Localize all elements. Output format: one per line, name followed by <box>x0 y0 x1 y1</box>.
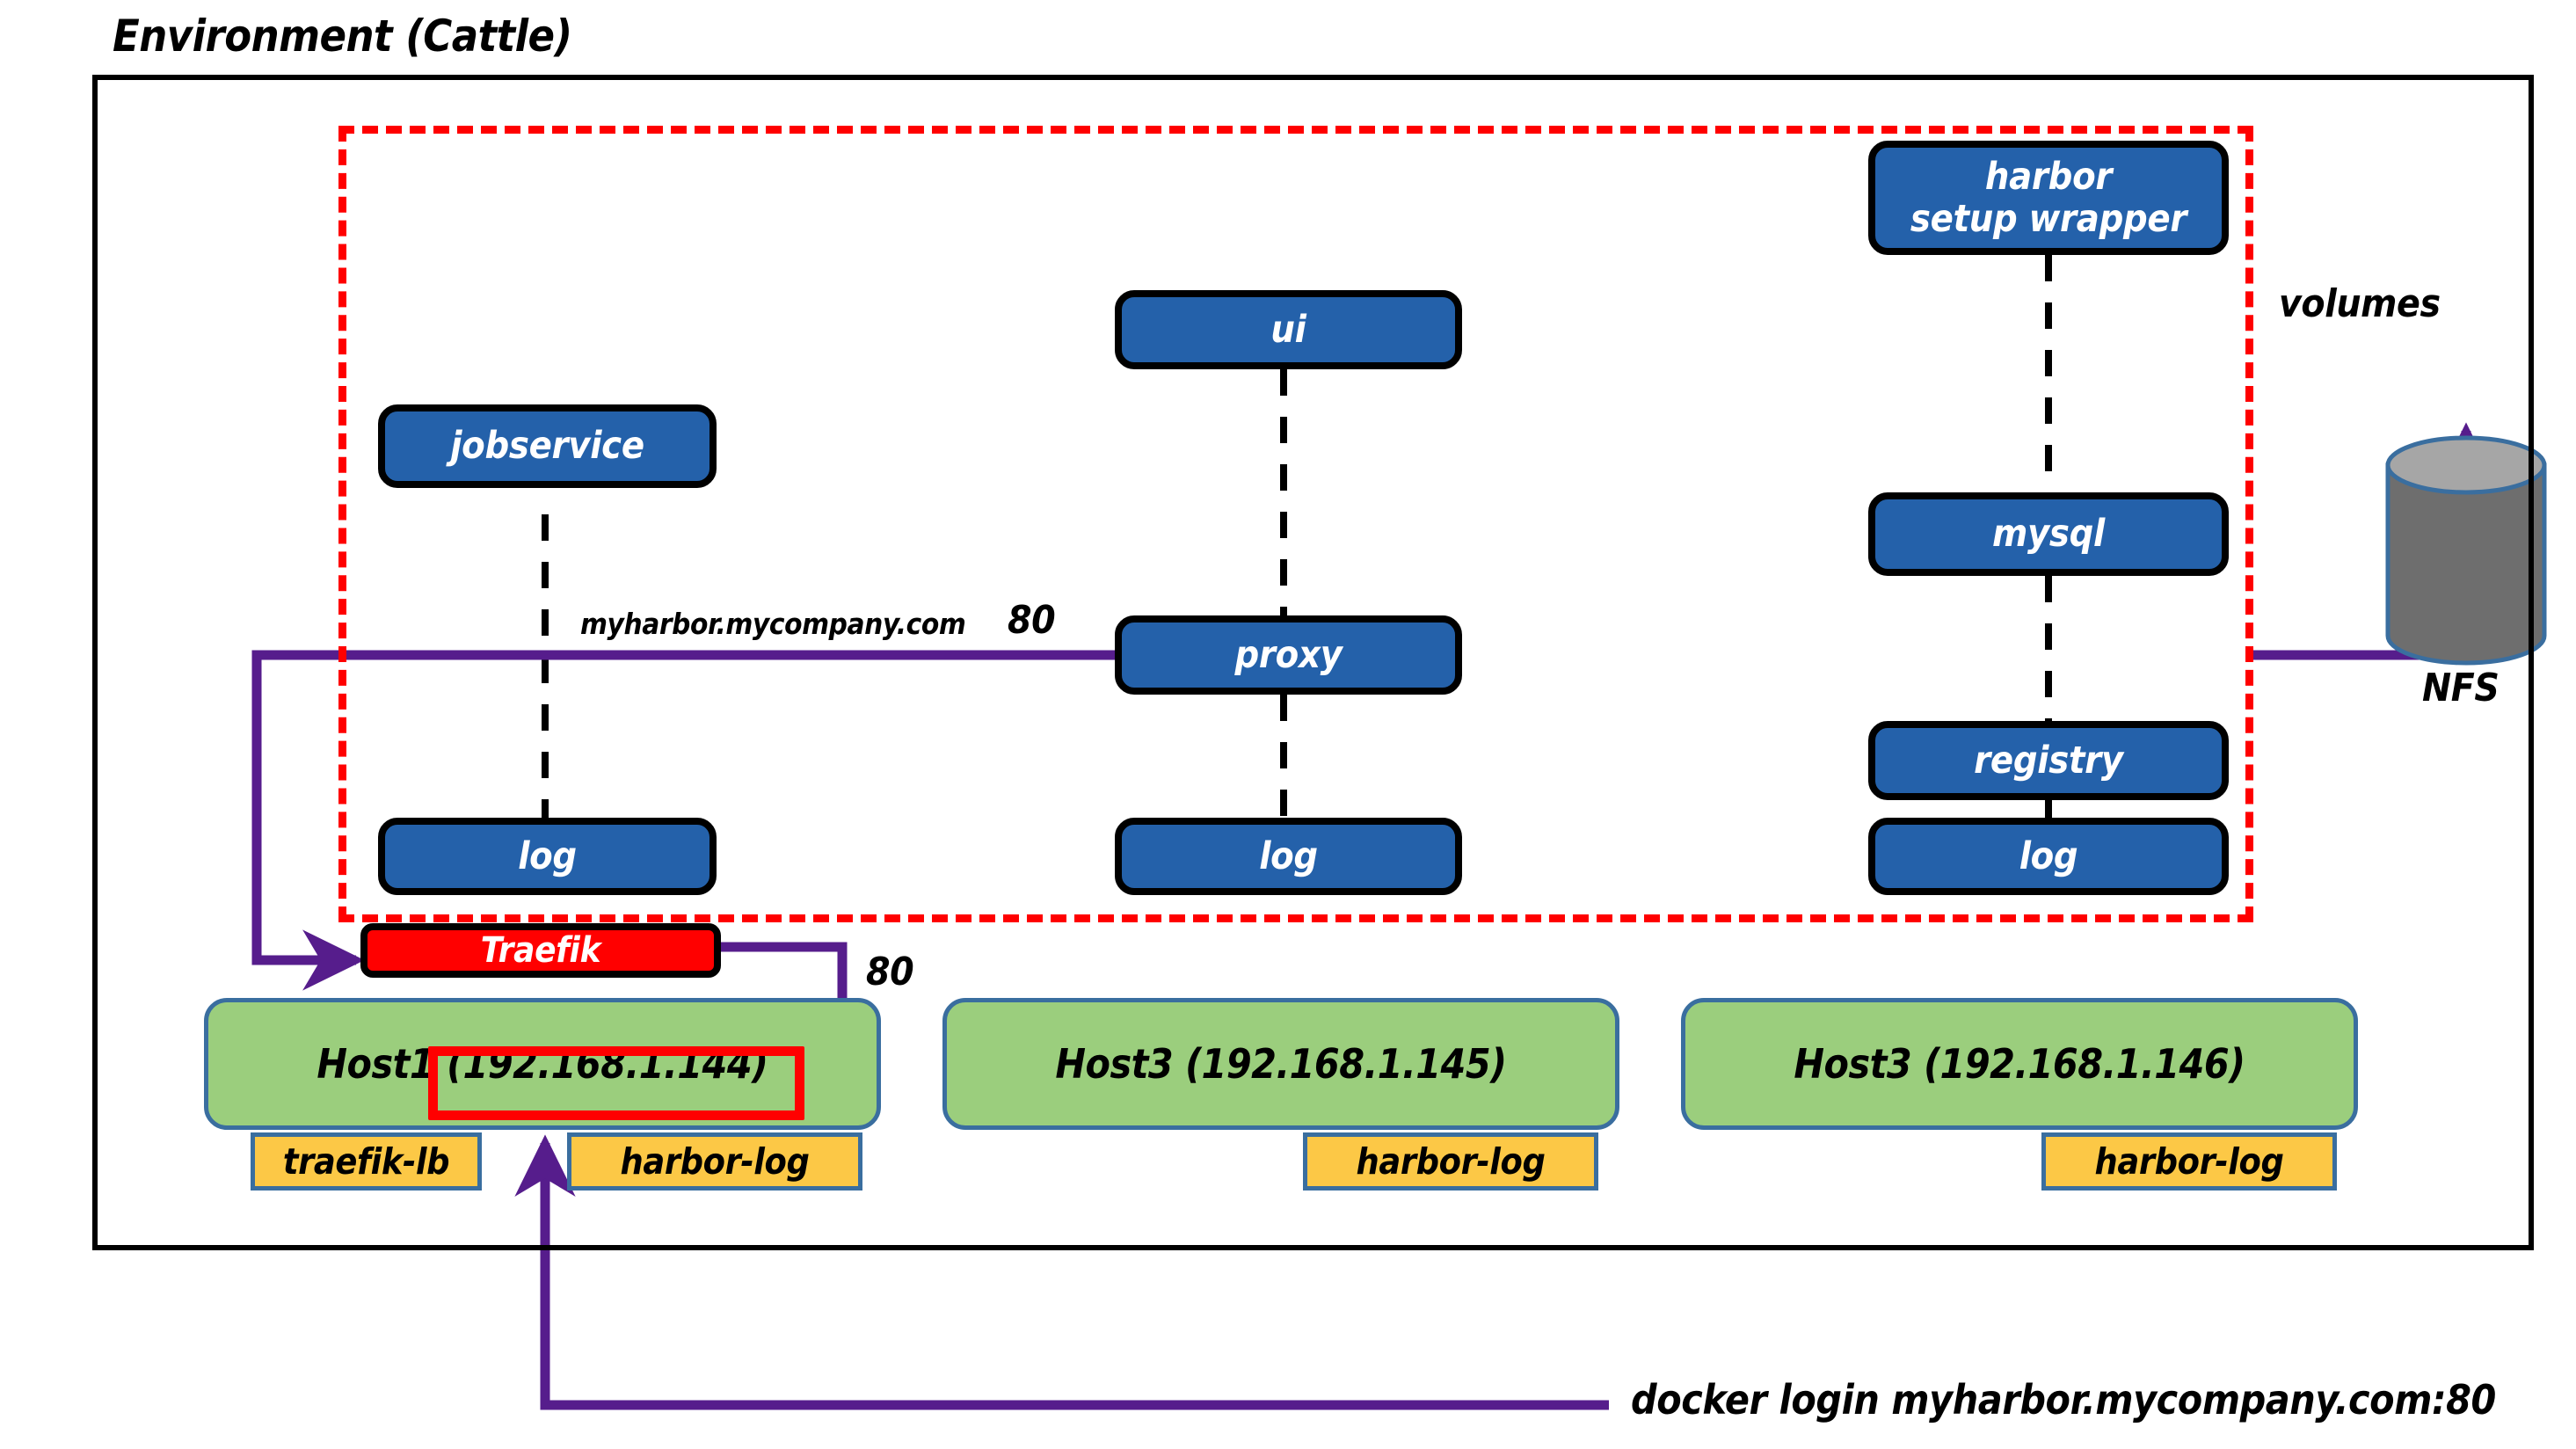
host1-ip-highlight <box>428 1046 804 1120</box>
label-nfs: NFS <box>2422 666 2500 710</box>
service-jobservice[interactable]: jobservice <box>378 404 717 488</box>
service-harbor-setup-wrapper[interactable]: harbor setup wrapper <box>1868 141 2229 255</box>
label-docker-login-command: docker login myharbor.mycompany.com:80 <box>1631 1376 2496 1424</box>
diagram-canvas: Environment (Cattle) jobservice log ui p… <box>0 0 2576 1449</box>
service-jobservice-log[interactable]: log <box>378 818 717 895</box>
service-registry[interactable]: registry <box>1868 721 2229 800</box>
badge-host1-traefik-lb[interactable]: traefik-lb <box>251 1132 482 1191</box>
service-registry-log[interactable]: log <box>1868 818 2229 895</box>
host-box-2[interactable]: Host3 (192.168.1.145) <box>942 998 1619 1130</box>
service-proxy[interactable]: proxy <box>1115 615 1462 695</box>
service-proxy-log[interactable]: log <box>1115 818 1462 895</box>
service-ui[interactable]: ui <box>1115 290 1462 369</box>
label-volumes: volumes <box>2279 281 2441 326</box>
service-mysql[interactable]: mysql <box>1868 492 2229 576</box>
environment-title: Environment (Cattle) <box>113 11 572 62</box>
badge-host3-harbor-log[interactable]: harbor-log <box>2041 1132 2337 1191</box>
traefik-load-balancer[interactable]: Traefik <box>360 923 721 978</box>
label-proxy-port: 80 <box>1008 598 1055 643</box>
host-box-3[interactable]: Host3 (192.168.1.146) <box>1681 998 2358 1130</box>
badge-host2-harbor-log[interactable]: harbor-log <box>1303 1132 1598 1191</box>
label-harbor-domain: myharbor.mycompany.com <box>580 607 965 641</box>
badge-host1-harbor-log[interactable]: harbor-log <box>567 1132 862 1191</box>
label-traefik-port: 80 <box>866 950 913 994</box>
